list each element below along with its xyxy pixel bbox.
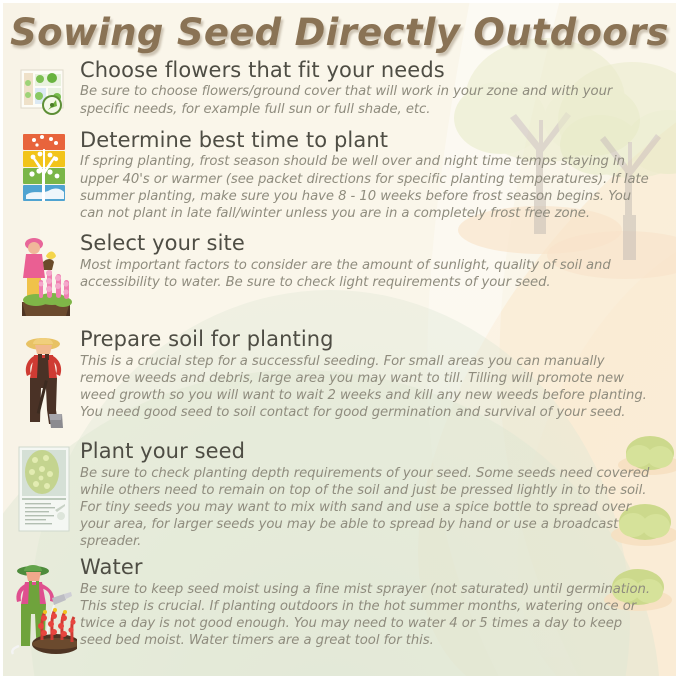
step-heading: Determine best time to plant <box>80 129 657 153</box>
step-heading: Select your site <box>80 232 657 256</box>
four-seasons-tree-icon <box>20 133 68 205</box>
step-body: This is a crucial step for a successful … <box>80 353 657 422</box>
step-icon-cell <box>8 59 80 121</box>
step-body: Be sure to choose flowers/ground cover t… <box>80 83 657 117</box>
step-item: Water Be sure to keep seed moist using a… <box>8 556 665 656</box>
step-icon-cell <box>8 129 80 205</box>
step-heading: Water <box>80 556 657 580</box>
step-text-cell: Choose flowers that fit your needs Be su… <box>80 59 665 118</box>
step-icon-cell <box>8 556 80 656</box>
step-icon-cell <box>8 328 80 432</box>
gardener-with-flower-planter-icon <box>14 236 74 320</box>
step-item: Prepare soil for planting This is a cruc… <box>8 328 665 432</box>
steps-list: Choose flowers that fit your needs Be su… <box>0 55 679 656</box>
gardener-with-shovel-icon <box>16 332 72 432</box>
step-text-cell: Prepare soil for planting This is a cruc… <box>80 328 665 421</box>
page-title: Sowing Seed Directly Outdoors <box>10 14 669 53</box>
step-body: If spring planting, frost season should … <box>80 153 657 222</box>
step-body: Be sure to check planting depth requirem… <box>80 465 657 551</box>
step-heading: Plant your seed <box>80 440 657 464</box>
step-item: Plant your seed Be sure to check plantin… <box>8 440 665 550</box>
step-text-cell: Water Be sure to keep seed moist using a… <box>80 556 665 649</box>
step-item: Determine best time to plant If spring p… <box>8 129 665 222</box>
gardener-watering-plants-icon <box>11 560 77 656</box>
step-body: Most important factors to consider are t… <box>80 257 657 291</box>
infographic-poster: Sowing Seed Directly Outdoors <box>0 0 679 679</box>
poster-title-wrap: Sowing Seed Directly Outdoors <box>0 0 679 55</box>
step-text-cell: Determine best time to plant If spring p… <box>80 129 665 222</box>
step-heading: Prepare soil for planting <box>80 328 657 352</box>
step-icon-cell <box>8 440 80 534</box>
seed-packet-icon <box>15 444 73 534</box>
step-body: Be sure to keep seed moist using a fine … <box>80 581 657 650</box>
garden-plan-compass-icon <box>16 65 72 121</box>
step-text-cell: Plant your seed Be sure to check plantin… <box>80 440 665 550</box>
step-item: Choose flowers that fit your needs Be su… <box>8 59 665 121</box>
step-heading: Choose flowers that fit your needs <box>80 59 657 83</box>
step-icon-cell <box>8 232 80 320</box>
step-item: Select your site Most important factors … <box>8 232 665 320</box>
step-text-cell: Select your site Most important factors … <box>80 232 665 291</box>
